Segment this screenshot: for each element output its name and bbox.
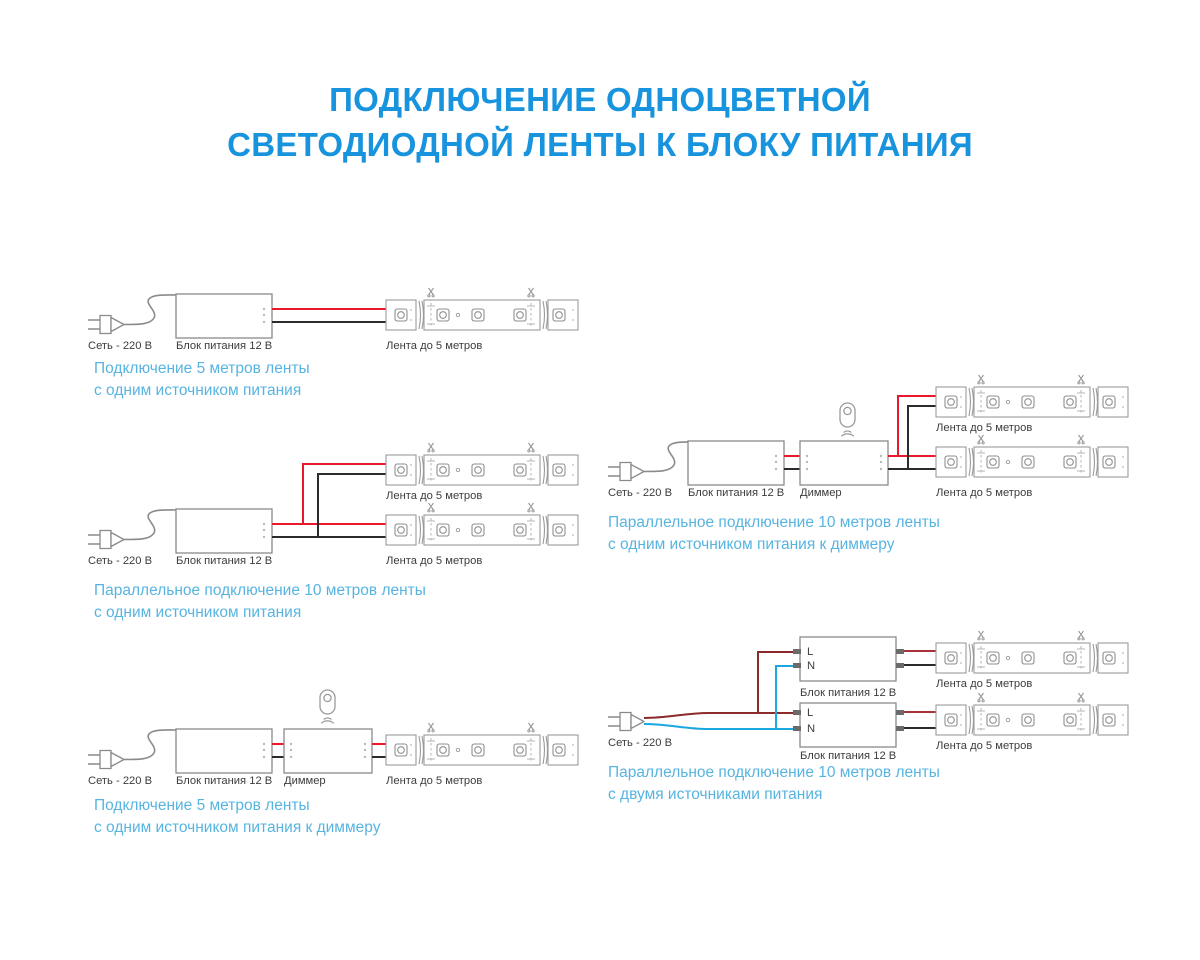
mains-plug-icon [88, 751, 124, 769]
cut-mark-icon [528, 723, 534, 732]
label-dimmer: Диммер [284, 775, 326, 787]
led-strip [386, 443, 578, 485]
mains-plug-icon [88, 316, 124, 334]
led-strip [936, 435, 1128, 477]
page-title-line-1: ПОДКЛЮЧЕНИЕ ОДНОЦВЕТНОЙ [0, 78, 1200, 123]
psu-output-terminals [896, 710, 904, 731]
cut-mark-icon [528, 443, 534, 452]
label-psu: Блок питания 12 В [688, 487, 784, 499]
wire-live-trunk [644, 713, 793, 718]
power-supply-box [176, 509, 272, 553]
label-dimmer: Диммер [800, 487, 842, 499]
label-strip: Лента до 5 метров [386, 775, 482, 787]
remote-control-icon [320, 690, 335, 723]
terminal-label-neutral: N [807, 723, 815, 735]
cut-mark-icon [978, 375, 984, 384]
diagram-single-strip-one-psu: Сеть - 220 В Блок питания 12 В Лента до … [88, 288, 568, 350]
cut-mark-icon [428, 723, 434, 732]
caption-line-2: с одним источником питания к диммеру [94, 817, 380, 839]
label-psu: Блок питания 12 В [176, 555, 272, 567]
terminal-label-live: L [807, 646, 813, 658]
page-root: ПОДКЛЮЧЕНИЕ ОДНОЦВЕТНОЙ СВЕТОДИОДНОЙ ЛЕН… [0, 0, 1200, 960]
caption-line-1: Параллельное подключение 10 метров ленты [94, 580, 426, 602]
caption-line-1: Подключение 5 метров ленты [94, 795, 380, 817]
caption-line-1: Подключение 5 метров ленты [94, 358, 310, 380]
wire-neutral-trunk [644, 724, 793, 729]
cut-mark-icon [978, 693, 984, 702]
caption-line-2: с двумя источниками питания [608, 784, 940, 806]
label-psu: Блок питания 12 В [176, 340, 272, 352]
power-supply-box [688, 441, 784, 485]
led-strip [936, 631, 1128, 673]
label-psu: Блок питания 12 В [176, 775, 272, 787]
caption-diagram-5: Параллельное подключение 10 метров ленты… [608, 762, 940, 807]
cut-mark-icon [428, 288, 434, 297]
caption-diagram-2: Параллельное подключение 10 метров ленты… [94, 580, 426, 625]
label-strip: Лента до 5 метров [936, 422, 1032, 434]
label-strip: Лента до 5 метров [386, 340, 482, 352]
diagram-single-strip-psu-dimmer: Сеть - 220 В Блок питания 12 В Диммер Ле… [88, 690, 568, 785]
mains-cable [124, 295, 176, 325]
led-strip [386, 288, 578, 330]
caption-diagram-3: Подключение 5 метров ленты с одним источ… [94, 795, 380, 840]
dimmer-box [284, 729, 372, 773]
label-mains: Сеть - 220 В [608, 737, 672, 749]
cut-mark-icon [428, 443, 434, 452]
caption-line-1: Параллельное подключение 10 метров ленты [608, 762, 940, 784]
label-psu: Блок питания 12 В [800, 687, 896, 699]
page-title: ПОДКЛЮЧЕНИЕ ОДНОЦВЕТНОЙ СВЕТОДИОДНОЙ ЛЕН… [0, 78, 1200, 168]
cut-mark-icon [1078, 693, 1084, 702]
label-psu: Блок питания 12 В [800, 750, 896, 762]
psu-output-terminals [896, 649, 904, 668]
cut-mark-icon [528, 288, 534, 297]
led-strip [936, 375, 1128, 417]
diagram-parallel-two-strips-two-psu: L N Блок питания 12 В L N Блок [608, 625, 1098, 760]
diagram-parallel-two-strips-psu-dimmer: Лента до 5 метров [608, 375, 1098, 500]
wire-negative-upper [908, 406, 938, 469]
terminal-label-neutral: N [807, 660, 815, 672]
cut-mark-icon [528, 503, 534, 512]
power-supply-box [176, 729, 272, 773]
label-mains: Сеть - 220 В [88, 555, 152, 567]
wire-negative-upper [318, 474, 388, 537]
mains-cable [124, 730, 176, 760]
mains-plug-icon [88, 531, 124, 549]
cut-mark-icon [428, 503, 434, 512]
cut-mark-icon [1078, 435, 1084, 444]
cut-mark-icon [1078, 631, 1084, 640]
label-mains: Сеть - 220 В [88, 775, 152, 787]
led-strip [936, 693, 1128, 735]
cut-mark-icon [978, 631, 984, 640]
led-strip [386, 503, 578, 545]
label-strip: Лента до 5 метров [936, 740, 1032, 752]
mains-cable [124, 510, 176, 540]
page-title-line-2: СВЕТОДИОДНОЙ ЛЕНТЫ К БЛОКУ ПИТАНИЯ [0, 123, 1200, 168]
cut-mark-icon [1078, 375, 1084, 384]
caption-line-2: с одним источником питания [94, 602, 426, 624]
diagram-parallel-two-strips-one-psu: Лента до 5 метров [88, 443, 568, 568]
label-strip: Лента до 5 метров [936, 678, 1032, 690]
caption-diagram-4: Параллельное подключение 10 метров ленты… [608, 512, 940, 557]
power-supply-box [800, 637, 896, 681]
remote-control-icon [840, 403, 855, 436]
label-mains: Сеть - 220 В [608, 487, 672, 499]
label-strip: Лента до 5 метров [386, 555, 482, 567]
power-supply-box [176, 294, 272, 338]
label-strip: Лента до 5 метров [936, 487, 1032, 499]
label-mains: Сеть - 220 В [88, 340, 152, 352]
mains-plug-icon [608, 713, 644, 731]
led-strip [386, 723, 578, 765]
dimmer-box [800, 441, 888, 485]
caption-line-2: с одним источником питания [94, 380, 310, 402]
label-strip: Лента до 5 метров [386, 490, 482, 502]
mains-plug-icon [608, 463, 644, 481]
cut-mark-icon [978, 435, 984, 444]
terminal-label-live: L [807, 707, 813, 719]
caption-line-1: Параллельное подключение 10 метров ленты [608, 512, 940, 534]
wire-neutral-upper [776, 666, 793, 729]
caption-line-2: с одним источником питания к диммеру [608, 534, 940, 556]
caption-diagram-1: Подключение 5 метров ленты с одним источ… [94, 358, 310, 403]
